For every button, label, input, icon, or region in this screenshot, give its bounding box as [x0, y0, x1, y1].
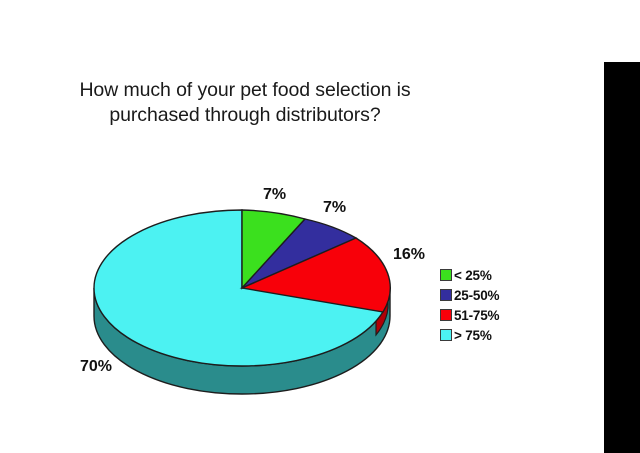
legend-label-lt25: < 25%: [454, 268, 492, 283]
pie-svg: [0, 170, 440, 410]
chart-title-line-1: How much of your pet food selection is: [30, 78, 460, 103]
chart-title-line-2: purchased through distributors?: [30, 103, 460, 128]
legend-swatch-icon-gt75: [440, 329, 452, 341]
legend-item-gt75: > 75%: [440, 325, 550, 345]
data-label-lt25: 7%: [263, 186, 286, 204]
legend-swatch-icon-lt25: [440, 269, 452, 281]
chart-title: How much of your pet food selection is p…: [30, 78, 460, 128]
legend-item-25-50: 25-50%: [440, 285, 550, 305]
legend-swatch-icon-51-75: [440, 309, 452, 321]
chart-legend: < 25% 25-50% 51-75% > 75%: [440, 265, 550, 345]
pie-chart-graphic: [0, 170, 440, 410]
legend-label-25-50: 25-50%: [454, 288, 499, 303]
pie-chart-slide: How much of your pet food selection is p…: [0, 0, 640, 453]
legend-label-51-75: 51-75%: [454, 308, 499, 323]
legend-item-51-75: 51-75%: [440, 305, 550, 325]
data-label-51-75: 16%: [393, 246, 425, 264]
right-edge-black-bar: [604, 62, 640, 453]
legend-swatch-icon-25-50: [440, 289, 452, 301]
data-label-25-50: 7%: [323, 199, 346, 217]
data-label-gt75: 70%: [80, 358, 112, 376]
legend-item-lt25: < 25%: [440, 265, 550, 285]
legend-label-gt75: > 75%: [454, 328, 492, 343]
